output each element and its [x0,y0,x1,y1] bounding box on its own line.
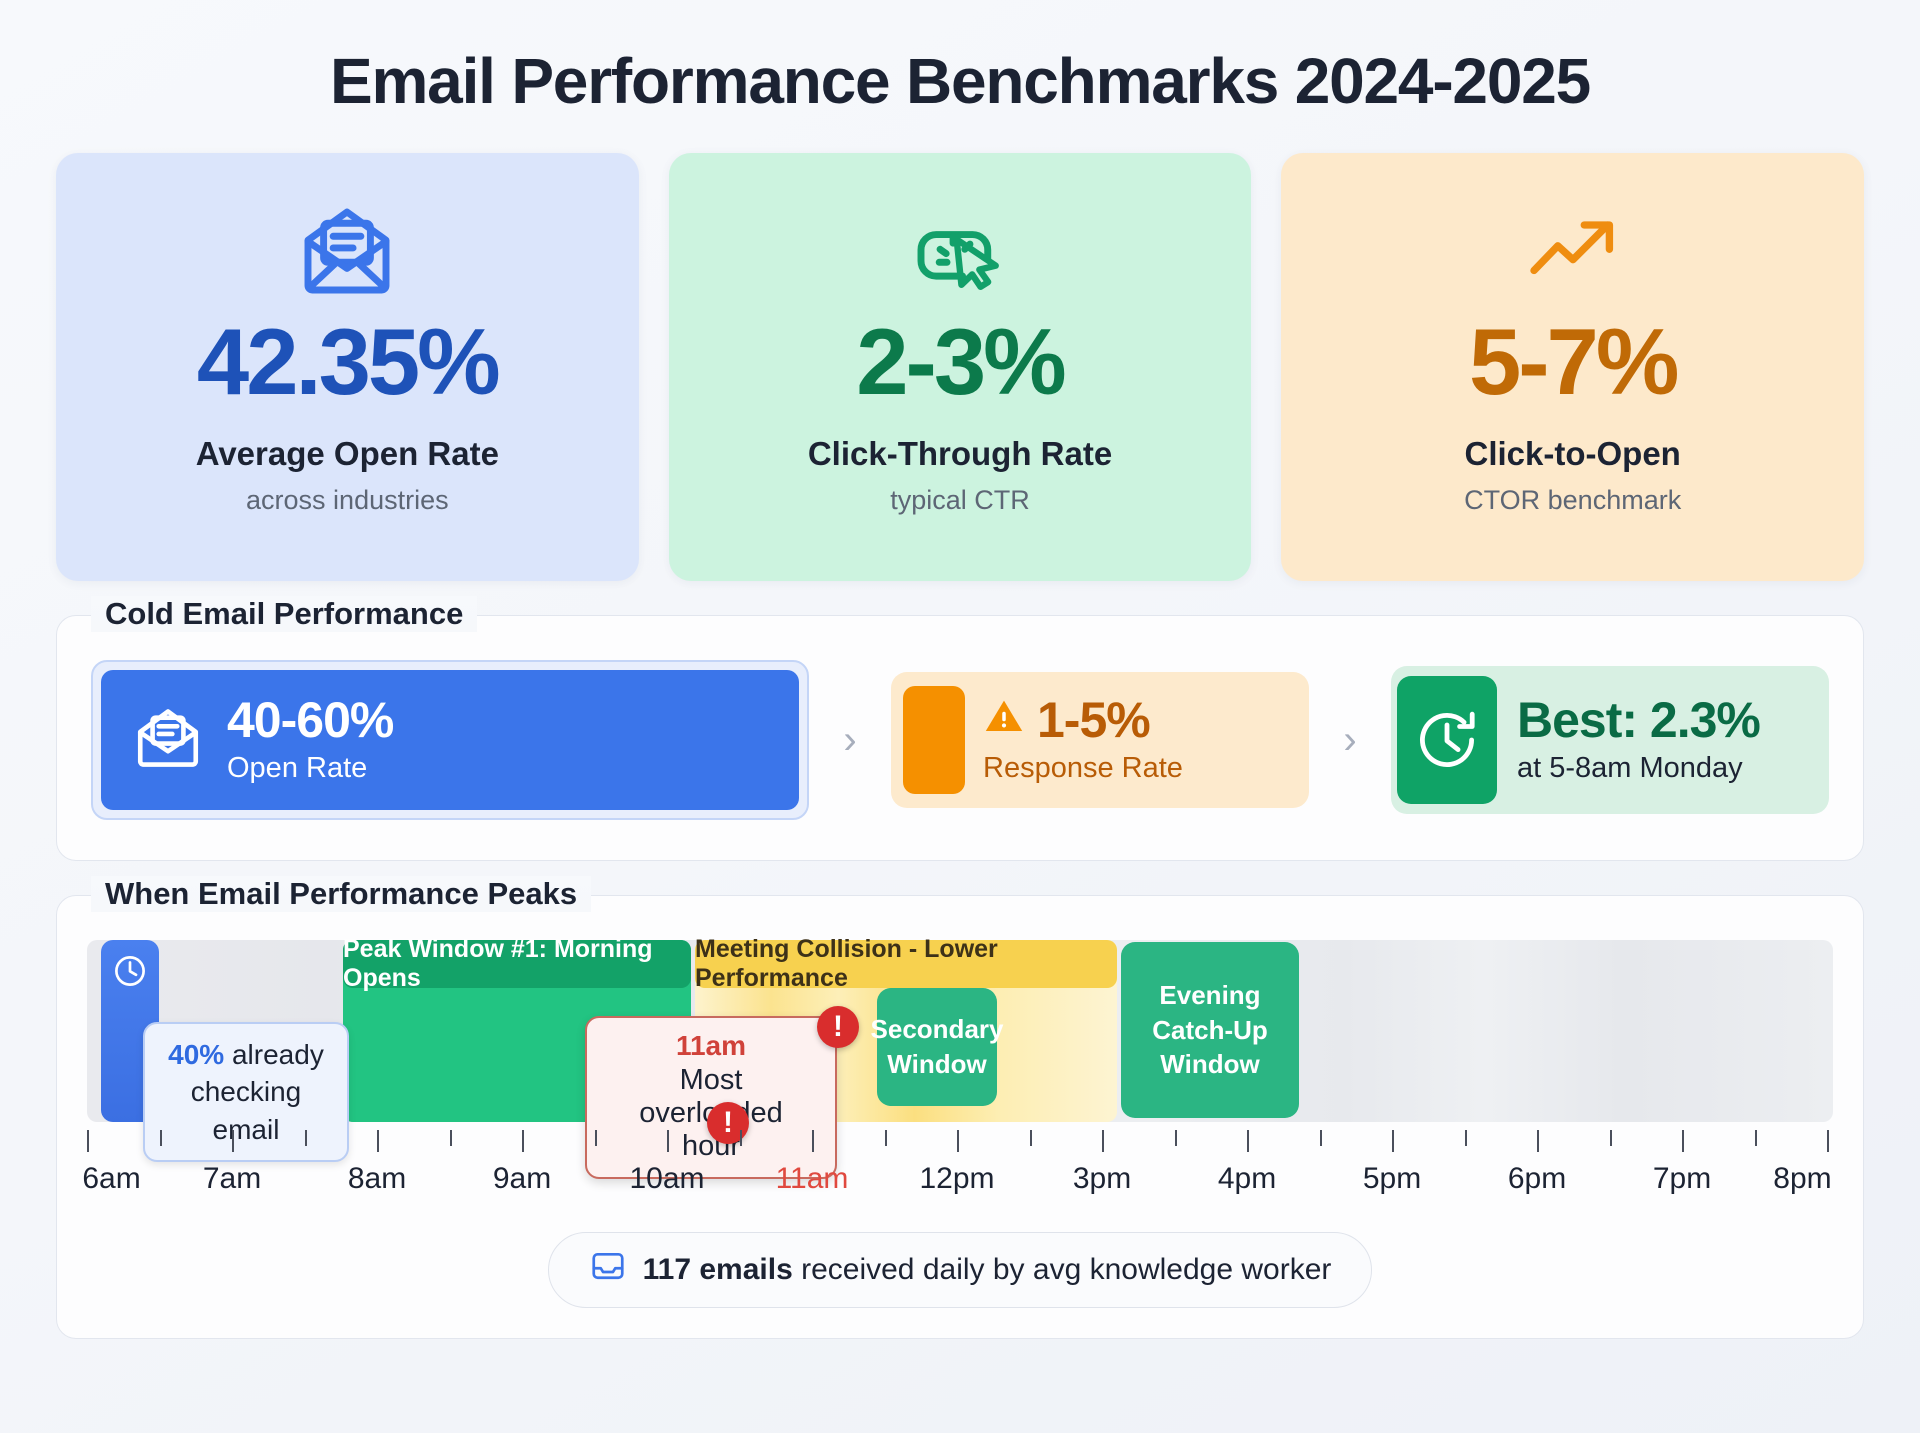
axis-label: 8pm [1773,1162,1831,1196]
stat-value: 5-7% [1469,315,1676,409]
stat-label: Average Open Rate [196,435,499,473]
axis-tick-minor [1320,1130,1322,1146]
stat-value: 2-3% [856,315,1063,409]
axis-tick [87,1130,89,1152]
flow-step-label: at 5-8am Monday [1517,751,1760,786]
flow-step-value: Best: 2.3% [1517,692,1760,748]
chip-line: Catch-Up [1152,1013,1268,1047]
note-highlight: 40% [168,1039,224,1070]
axis-tick [232,1130,234,1152]
axis-tick-minor [450,1130,452,1146]
chip-line: Evening [1159,978,1260,1012]
axis-label: 7pm [1653,1162,1711,1196]
stat-value: 42.35% [197,315,498,409]
chip-line: Window [887,1047,986,1081]
flow-arrow-2: › [1309,718,1391,763]
axis-tick [957,1130,959,1152]
stat-sublabel: CTOR benchmark [1464,485,1681,516]
warning-triangle-icon [983,694,1025,747]
axis-label: 6pm [1508,1162,1566,1196]
inbox-icon [589,1247,627,1293]
axis-tick [1392,1130,1394,1152]
axis-label: 3pm [1073,1162,1131,1196]
callout-time: 11am [613,1030,809,1062]
timeline-axis [87,1130,1833,1156]
band-title: Meeting Collision - Lower Performance [695,940,1117,988]
clock-icon [111,952,149,995]
axis-tick-minor [1755,1130,1757,1146]
axis-tick-minor [740,1130,742,1146]
axis-label: 4pm [1218,1162,1276,1196]
flow-step-open-rate[interactable]: 40-60% Open Rate [91,660,809,819]
stat-sublabel: typical CTR [890,485,1030,516]
stat-card-ctor[interactable]: 5-7% Click-to-Open CTOR benchmark [1281,153,1864,581]
page-title: Email Performance Benchmarks 2024-2025 [56,0,1864,116]
axis-label: 8am [348,1162,406,1196]
trending-up-icon [1521,197,1625,305]
axis-tick [377,1130,379,1152]
orange-accent-bar [903,686,965,794]
flow-step-value: 1-5% [1037,694,1150,747]
clock-refresh-icon [1397,676,1497,804]
axis-label: 12pm [919,1162,994,1196]
axis-label: 5pm [1363,1162,1421,1196]
timeline-chip-secondary-window[interactable]: Secondary Window [877,988,997,1106]
axis-label: 6am [82,1162,140,1196]
chip-line: Window [1160,1047,1259,1081]
axis-tick [1827,1130,1829,1152]
stat-sublabel: across industries [246,485,449,516]
axis-label: 11am [776,1162,849,1196]
envelope-icon [131,701,205,780]
cold-email-legend: Cold Email Performance [91,596,477,632]
stat-card-open-rate[interactable]: 42.35% Average Open Rate across industri… [56,153,639,581]
timeline-track: Peak Window #1: Morning Opens Meeting Co… [87,940,1833,1122]
cold-email-flow: 40-60% Open Rate › [57,616,1863,859]
flow-step-value: 40-60% [227,692,393,748]
axis-tick [522,1130,524,1152]
daily-email-volume-badge: 117 emails received daily by avg knowled… [548,1232,1373,1308]
axis-tick [667,1130,669,1152]
email-count: 117 emails [643,1253,793,1286]
axis-tick [812,1130,814,1152]
stat-label: Click-to-Open [1465,435,1681,473]
flow-arrow-1: › [809,718,891,763]
flow-step-label: Open Rate [227,751,393,786]
band-title: Peak Window #1: Morning Opens [343,940,691,988]
open-envelope-icon [295,197,399,305]
axis-tick-minor [1465,1130,1467,1146]
axis-tick-minor [1175,1130,1177,1146]
flow-step-label: Response Rate [983,751,1183,786]
infographic-page: Email Performance Benchmarks 2024-2025 4… [0,0,1920,1433]
flow-step-best-time[interactable]: Best: 2.3% at 5-8am Monday [1391,666,1829,814]
axis-tick-minor [1610,1130,1612,1146]
stat-cards: 42.35% Average Open Rate across industri… [56,153,1864,581]
stat-label: Click-Through Rate [808,435,1112,473]
axis-tick-minor [305,1130,307,1146]
cold-email-panel: Cold Email Performance 40-60% Open [56,615,1864,860]
axis-label: 7am [203,1162,261,1196]
axis-tick [1102,1130,1104,1152]
axis-tick [1247,1130,1249,1152]
timeline-panel: When Email Performance Peaks Peak Window… [56,895,1864,1339]
timeline-axis-labels: 6am7am8am9am10am11am12pm3pm4pm5pm6pm7pm8… [87,1162,1833,1210]
axis-label: 10am [629,1162,704,1196]
axis-tick-minor [160,1130,162,1146]
cursor-click-icon [908,197,1012,305]
timeline-wrap: Peak Window #1: Morning Opens Meeting Co… [57,896,1863,1338]
axis-tick-minor [1030,1130,1032,1146]
email-count-text: received daily by avg knowledge worker [793,1253,1332,1286]
timeline-legend: When Email Performance Peaks [91,876,591,912]
chip-line: Secondary [871,1012,1004,1046]
stat-card-ctr[interactable]: 2-3% Click-Through Rate typical CTR [669,153,1252,581]
note-rest: already [224,1039,324,1070]
axis-tick [1682,1130,1684,1152]
axis-tick [1537,1130,1539,1152]
flow-step-response-rate[interactable]: 1-5% Response Rate [891,672,1309,808]
flow-step-value-wrap: 1-5% [983,694,1183,747]
overloaded-hour-exclamation-icon: ! [817,1006,859,1048]
axis-label: 9am [493,1162,551,1196]
axis-tick-minor [885,1130,887,1146]
axis-tick-minor [595,1130,597,1146]
timeline-chip-evening-catchup[interactable]: Evening Catch-Up Window [1121,942,1299,1118]
